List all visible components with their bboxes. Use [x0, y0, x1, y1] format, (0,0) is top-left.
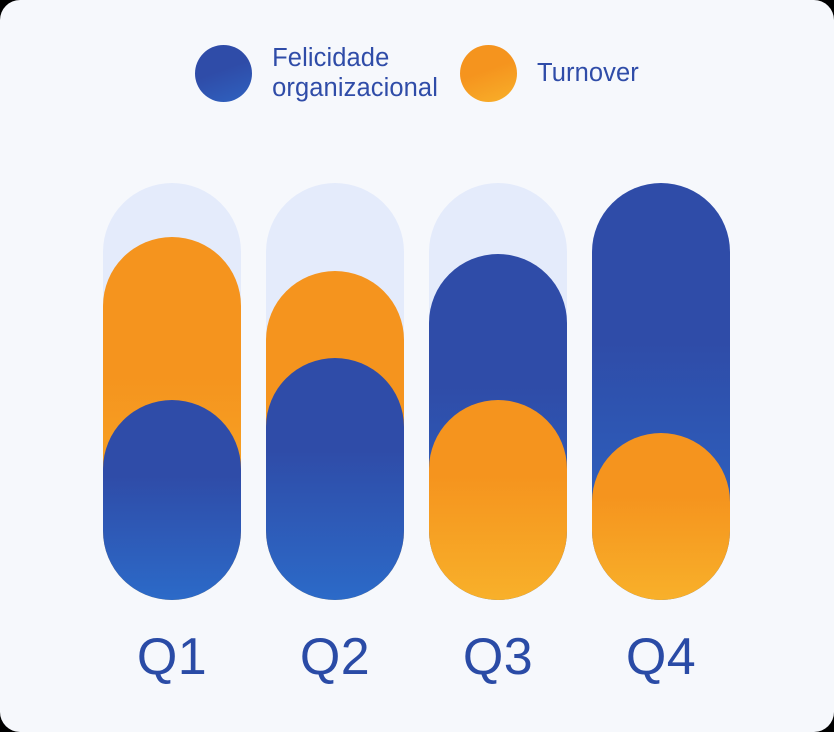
bar-group-q4[interactable] [592, 183, 730, 600]
legend-item-turnover[interactable]: Turnover [460, 45, 639, 102]
bar-q3-turnover[interactable] [429, 400, 567, 600]
chart-card: Felicidade organizacional Turnover [0, 0, 834, 732]
legend-item-felicidade-organizacional[interactable]: Felicidade organizacional [195, 44, 438, 103]
bar-group-q2[interactable] [266, 183, 404, 600]
chart-legend: Felicidade organizacional Turnover [0, 44, 834, 103]
legend-label-turnover: Turnover [537, 59, 639, 89]
bar-group-q1[interactable] [103, 183, 241, 600]
legend-dot-blue-icon [195, 45, 252, 102]
bar-q1-felicidade-organizacional[interactable] [103, 400, 241, 600]
bar-q2-felicidade-organizacional[interactable] [266, 358, 404, 600]
bar-group-q3[interactable] [429, 183, 567, 600]
x-axis-label-q4: Q4 [592, 622, 730, 692]
chart-plot-area [0, 183, 834, 600]
legend-label-felicidade-organizacional: Felicidade organizacional [272, 44, 438, 103]
x-axis-label-q2: Q2 [266, 622, 404, 692]
chart-x-axis: Q1 Q2 Q3 Q4 [0, 622, 834, 692]
x-axis-label-q3: Q3 [429, 622, 567, 692]
x-axis-label-q1: Q1 [103, 622, 241, 692]
bar-q4-turnover[interactable] [592, 433, 730, 600]
legend-dot-orange-icon [460, 45, 517, 102]
